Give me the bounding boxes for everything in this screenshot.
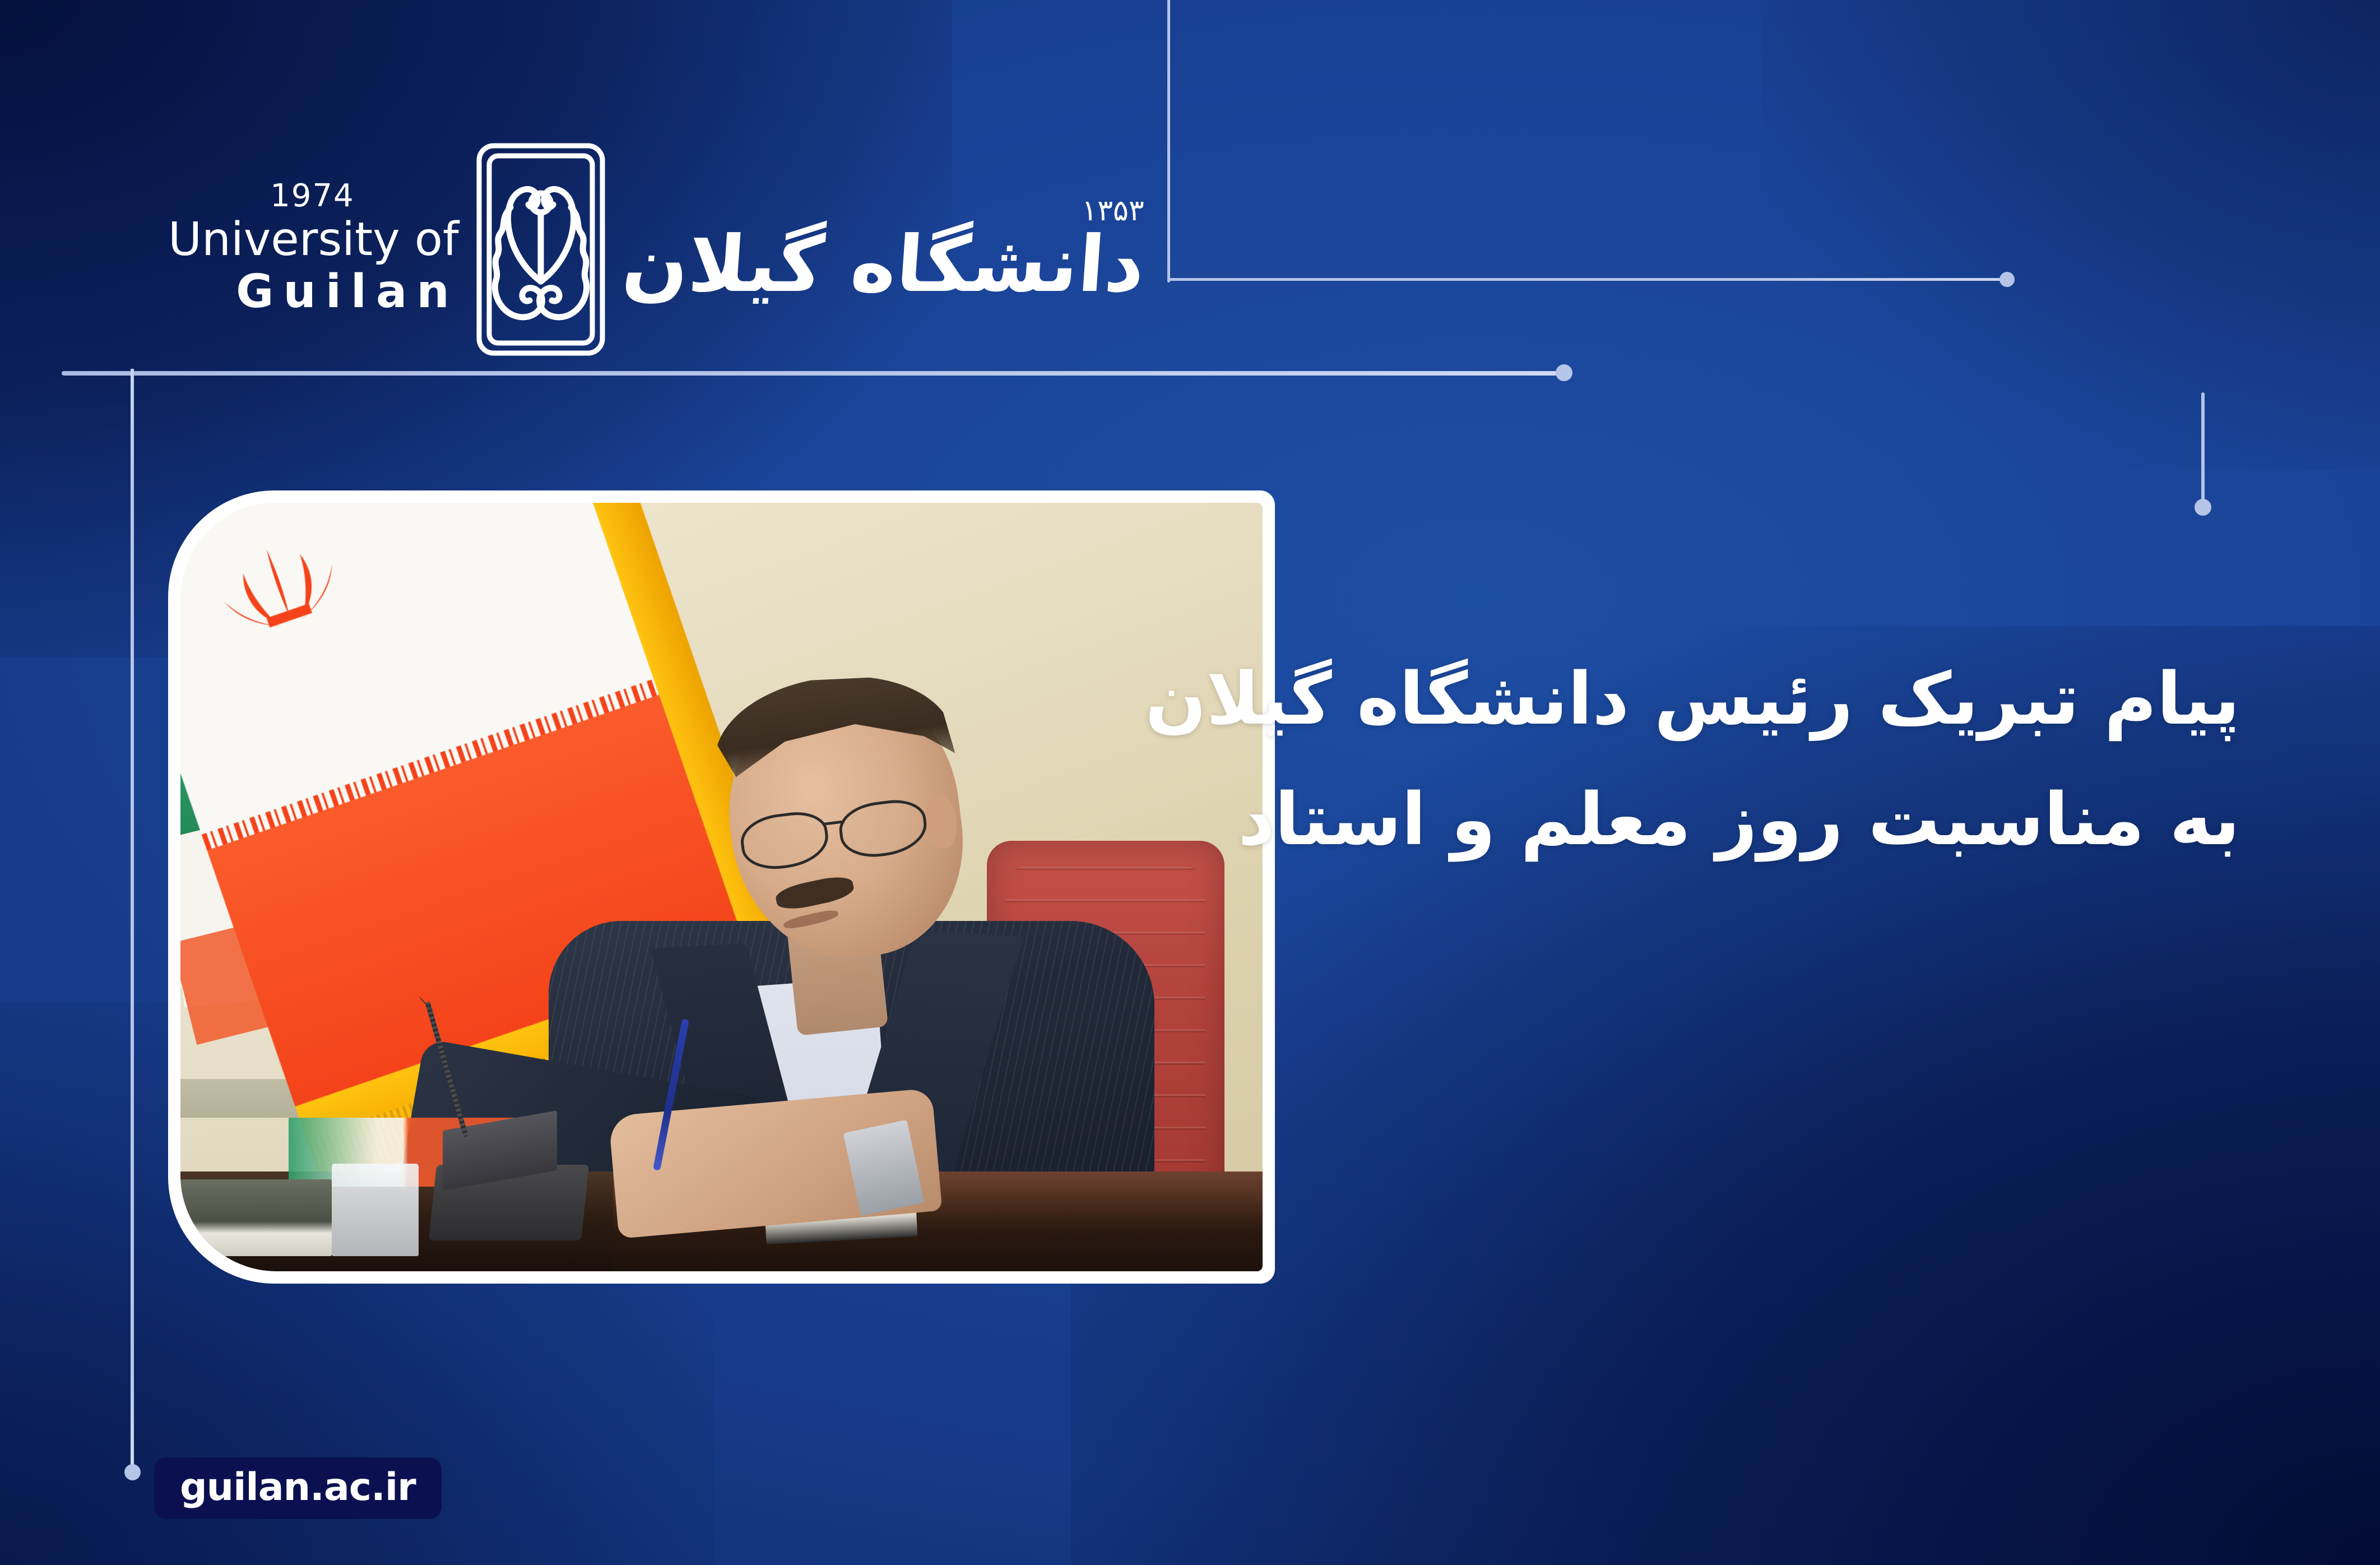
- poster-canvas: 1974 University of Guilan ۱۳۵۳ دانشگاه گ…: [0, 0, 2380, 1565]
- photo-water-glass: [332, 1164, 418, 1256]
- headline: پیام تبریک رئیس دانشگاه گیلان به مناسبت …: [1175, 639, 2240, 880]
- university-logo: 1974 University of Guilan ۱۳۵۳ دانشگاه گ…: [168, 140, 1144, 359]
- logo-name-persian: دانشگاه گیلان: [620, 224, 1147, 305]
- decorative-vertical-line-left: [131, 369, 134, 1472]
- decorative-horizontal-line-left: [62, 371, 1569, 376]
- glasses-lens-left: [738, 809, 831, 873]
- person-mouth: [783, 908, 839, 931]
- decorative-dot-left-horizontal: [1556, 364, 1572, 381]
- photo-microphone: [419, 1041, 592, 1240]
- logo-name-line2: Guilan: [168, 263, 459, 321]
- logo-year-english: 1974: [168, 178, 457, 214]
- headline-line-2: به مناسبت روز معلم و استاد: [1175, 760, 2240, 880]
- glasses-lens-right: [837, 797, 930, 861]
- logo-english-block: 1974 University of Guilan: [168, 178, 474, 321]
- decorative-dot-right: [2195, 499, 2211, 516]
- decorative-dot-top-right: [1999, 272, 2015, 287]
- logo-persian-block: ۱۳۵۳ دانشگاه گیلان: [608, 194, 1144, 305]
- person-glasses-icon: [738, 795, 941, 873]
- photo-image: [180, 503, 1263, 1271]
- guilan-butterfly-emblem-icon: [474, 140, 608, 359]
- decorative-vertical-line-right: [2201, 392, 2205, 504]
- website-url-badge[interactable]: guilan.ac.ir: [154, 1457, 442, 1519]
- decorative-dot-left-vertical: [124, 1464, 141, 1480]
- background-corner-top-right: [1761, 0, 2380, 470]
- website-url-text: guilan.ac.ir: [180, 1465, 416, 1510]
- logo-name-line1: University of: [168, 216, 459, 263]
- headline-line-1: پیام تبریک رئیس دانشگاه گیلان: [1175, 639, 2240, 760]
- decorative-horizontal-line-top-right: [1167, 278, 2008, 281]
- photo-folder: [180, 1179, 332, 1256]
- decorative-vertical-line-top-right: [1167, 0, 1170, 283]
- person-moustache: [774, 873, 856, 913]
- photo-card: [168, 490, 1275, 1284]
